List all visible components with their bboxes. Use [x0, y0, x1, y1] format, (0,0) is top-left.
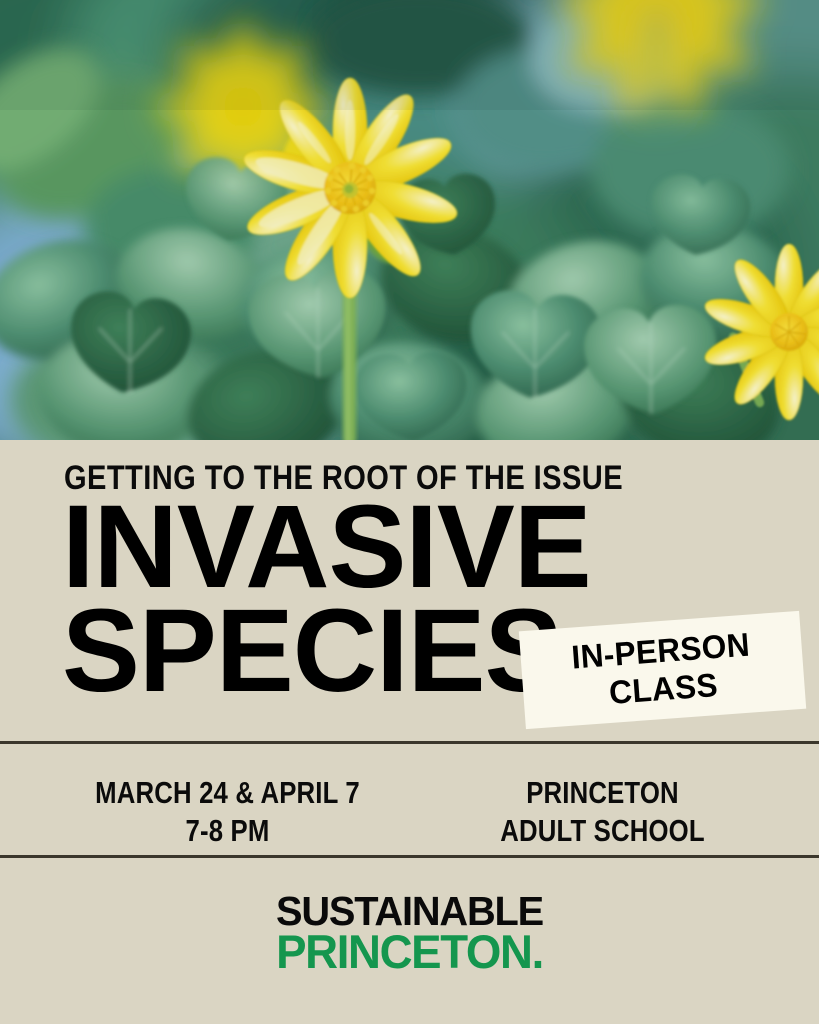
photo-illustration	[0, 0, 819, 440]
title-line-1: INVASIVE	[62, 495, 755, 599]
divider-top	[0, 741, 819, 744]
venue-line-2: ADULT SCHOOL	[451, 812, 754, 850]
detail-date-time: MARCH 24 & APRIL 7 7-8 PM	[55, 774, 400, 850]
logo-line-sustainable: SUSTAINABLE	[12, 893, 806, 929]
divider-bottom	[0, 855, 819, 858]
in-person-class-badge: IN-PERSON CLASS	[519, 611, 806, 729]
hero-photo	[0, 0, 819, 440]
detail-time: 7-8 PM	[84, 812, 370, 850]
logo-line-princeton: PRINCETON.	[12, 929, 806, 974]
sustainable-princeton-logo: SUSTAINABLE PRINCETON.	[0, 893, 819, 974]
detail-date: MARCH 24 & APRIL 7	[84, 774, 370, 812]
venue-line-1: PRINCETON	[451, 774, 754, 812]
detail-venue: PRINCETON ADULT SCHOOL	[420, 774, 785, 850]
badge-text: IN-PERSON CLASS	[571, 626, 755, 715]
event-details: MARCH 24 & APRIL 7 7-8 PM PRINCETON ADUL…	[0, 758, 819, 853]
poster: GETTING TO THE ROOT OF THE ISSUE INVASIV…	[0, 0, 819, 1024]
